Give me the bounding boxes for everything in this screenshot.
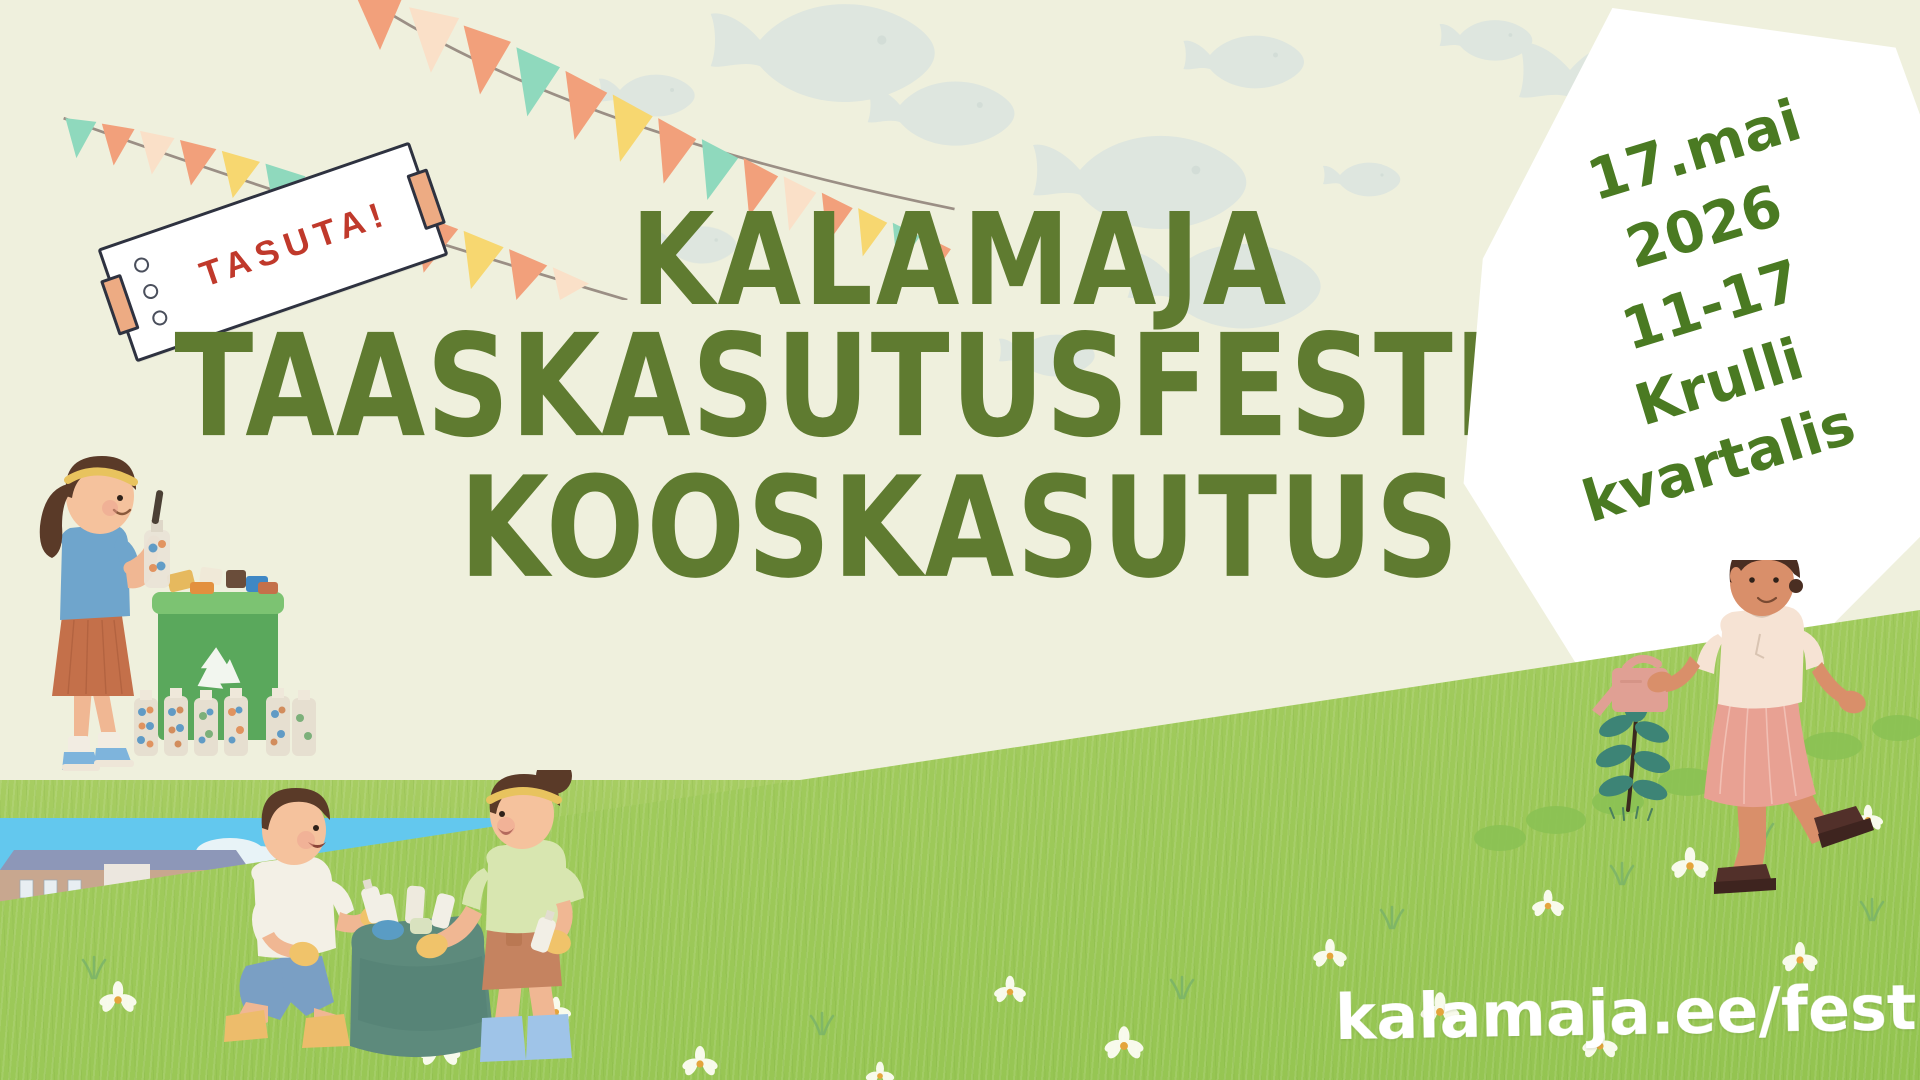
festival-url[interactable]: kalamaja.ee/festival <box>1334 969 1920 1054</box>
illustration-woman-watering <box>1590 560 1920 920</box>
festival-poster: TASUTA! KALAMAJA TAASKASUTUSFESTIVAL KOO… <box>0 0 1920 1080</box>
woman-figure <box>1644 560 1874 894</box>
illustration-kids-collecting <box>210 770 630 1080</box>
illustration-girl-recycling <box>18 440 318 800</box>
